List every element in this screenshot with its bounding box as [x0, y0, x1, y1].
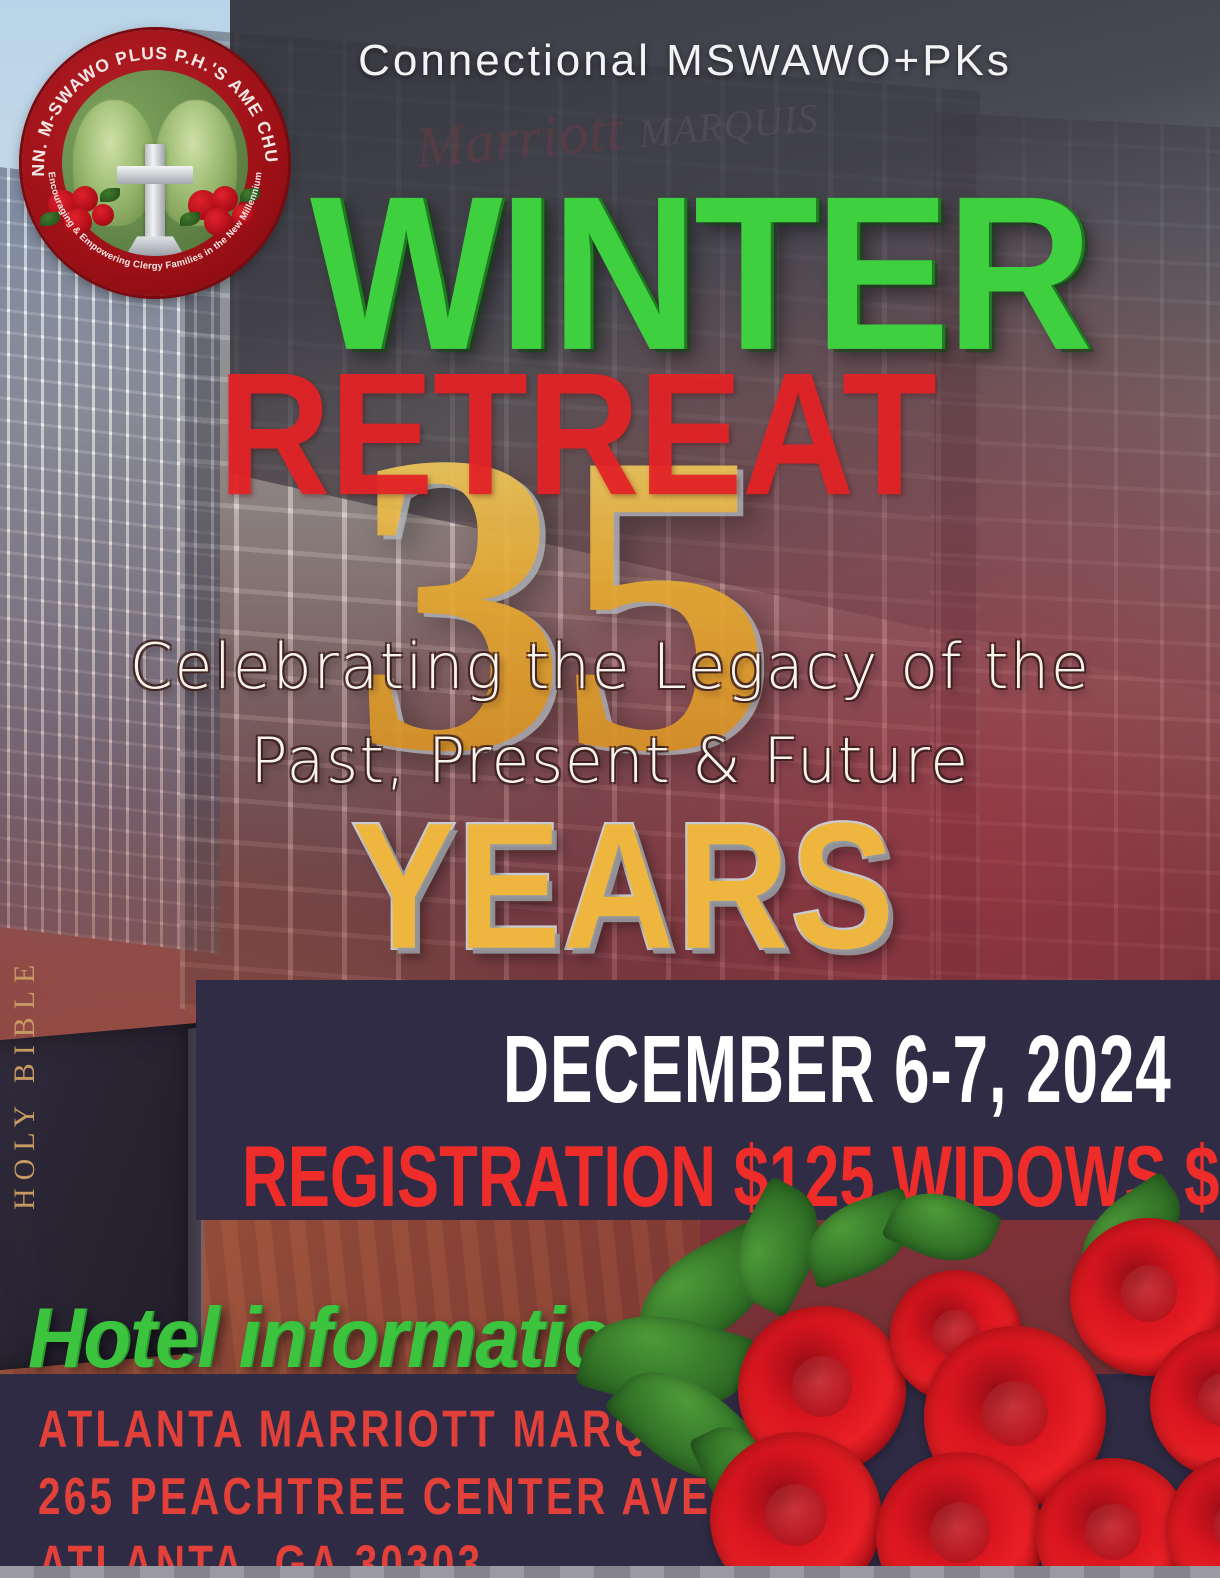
event-dates: DECEMBER 6-7, 2024 [503, 1014, 1172, 1125]
winter-retreat-flyer: Marriott MARQUIS HOLY BIBLE CONN. M-SWAW… [0, 0, 1220, 1578]
title-retreat: RETREAT [218, 362, 936, 509]
bottom-edge-strip [0, 1566, 1220, 1578]
holy-bible-label: HOLY BIBLE [8, 970, 42, 1210]
anniversary-years-word: YEARS [352, 812, 896, 963]
church-logo-seal: CONN. M-SWAWO PLUS P.H.'S AME CHURCH Enc… [22, 30, 288, 296]
tagline: Celebrating the Legacy of the Past, Pres… [0, 620, 1220, 808]
svg-text:Encouraging & Empowering Clerg: Encouraging & Empowering Clergy Families… [45, 171, 264, 272]
tagline-line-1: Celebrating the Legacy of the [130, 630, 1091, 703]
rose-bouquet [590, 1208, 1220, 1578]
seal-arc-bottom-text: Encouraging & Empowering Clergy Families… [22, 30, 288, 296]
event-details-panel: DECEMBER 6-7, 2024 REGISTRATION $125 WID… [196, 980, 1220, 1220]
seal-arc-bottom-label: Encouraging & Empowering Clergy Families… [45, 171, 264, 272]
